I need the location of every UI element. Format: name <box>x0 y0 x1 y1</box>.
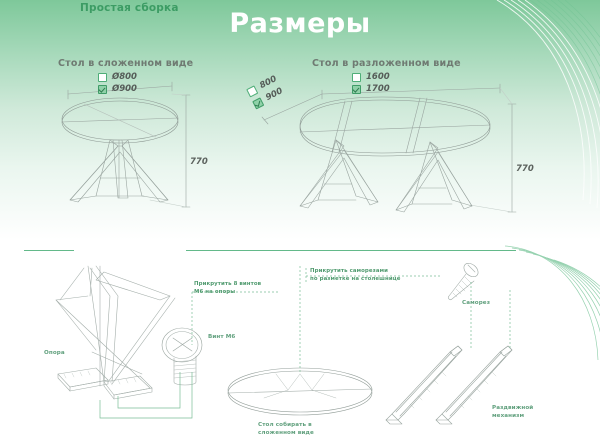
checkbox-length-1700[interactable] <box>352 85 361 94</box>
instruction-sheet: Размеры <box>0 0 600 440</box>
option-label: 1600 <box>366 72 390 82</box>
option-diameter-900[interactable]: Ø900 <box>98 84 137 94</box>
note-assemble-folded: Стол собирать в сложенном виде <box>258 421 314 437</box>
note-line-2: М6 на опоры <box>194 289 261 297</box>
note-line-2: по разметке на столешнице <box>310 276 401 284</box>
option-label: Ø800 <box>112 72 137 82</box>
divider-rule-right <box>186 250 516 251</box>
note-line-1: Прикрутить 8 винтов <box>194 281 261 289</box>
height-dimension-folded: 770 <box>190 157 208 167</box>
unfolded-section-heading: Стол в разложенном виде <box>312 58 461 69</box>
note-attach-screws: Прикрутить саморезами по разметке на сто… <box>310 268 401 284</box>
divider-rule-left <box>24 250 74 251</box>
option-diameter-800[interactable]: Ø800 <box>98 72 137 82</box>
checkbox-diameter-900[interactable] <box>98 85 107 94</box>
checkbox-diameter-800[interactable] <box>98 73 107 82</box>
option-label: 1700 <box>366 84 390 94</box>
label-line-2: сложенном виде <box>258 429 314 437</box>
folded-section-heading: Стол в сложенном виде <box>58 58 193 69</box>
height-dimension-unfolded: 770 <box>516 164 534 174</box>
part-label-support: Опора <box>44 349 65 357</box>
checkbox-length-1600[interactable] <box>352 73 361 82</box>
part-label-self-tapping-screw: Саморез <box>462 299 490 307</box>
label-line-1: Раздвижной <box>492 404 533 412</box>
note-attach-bolts: Прикрутить 8 винтов М6 на опоры <box>194 281 261 297</box>
assembly-divider <box>0 240 600 260</box>
part-label-bolt: Винт М6 <box>208 333 235 341</box>
assembly-heading: Простая сборка <box>80 2 179 14</box>
label-line-1: Стол собирать в <box>258 421 314 429</box>
option-length-1700[interactable]: 1700 <box>352 84 390 94</box>
part-label-slide-mechanism: Раздвижной механизм <box>492 404 533 420</box>
note-line-1: Прикрутить саморезами <box>310 268 401 276</box>
option-length-1600[interactable]: 1600 <box>352 72 390 82</box>
label-line-2: механизм <box>492 412 533 420</box>
option-label: Ø900 <box>112 84 137 94</box>
